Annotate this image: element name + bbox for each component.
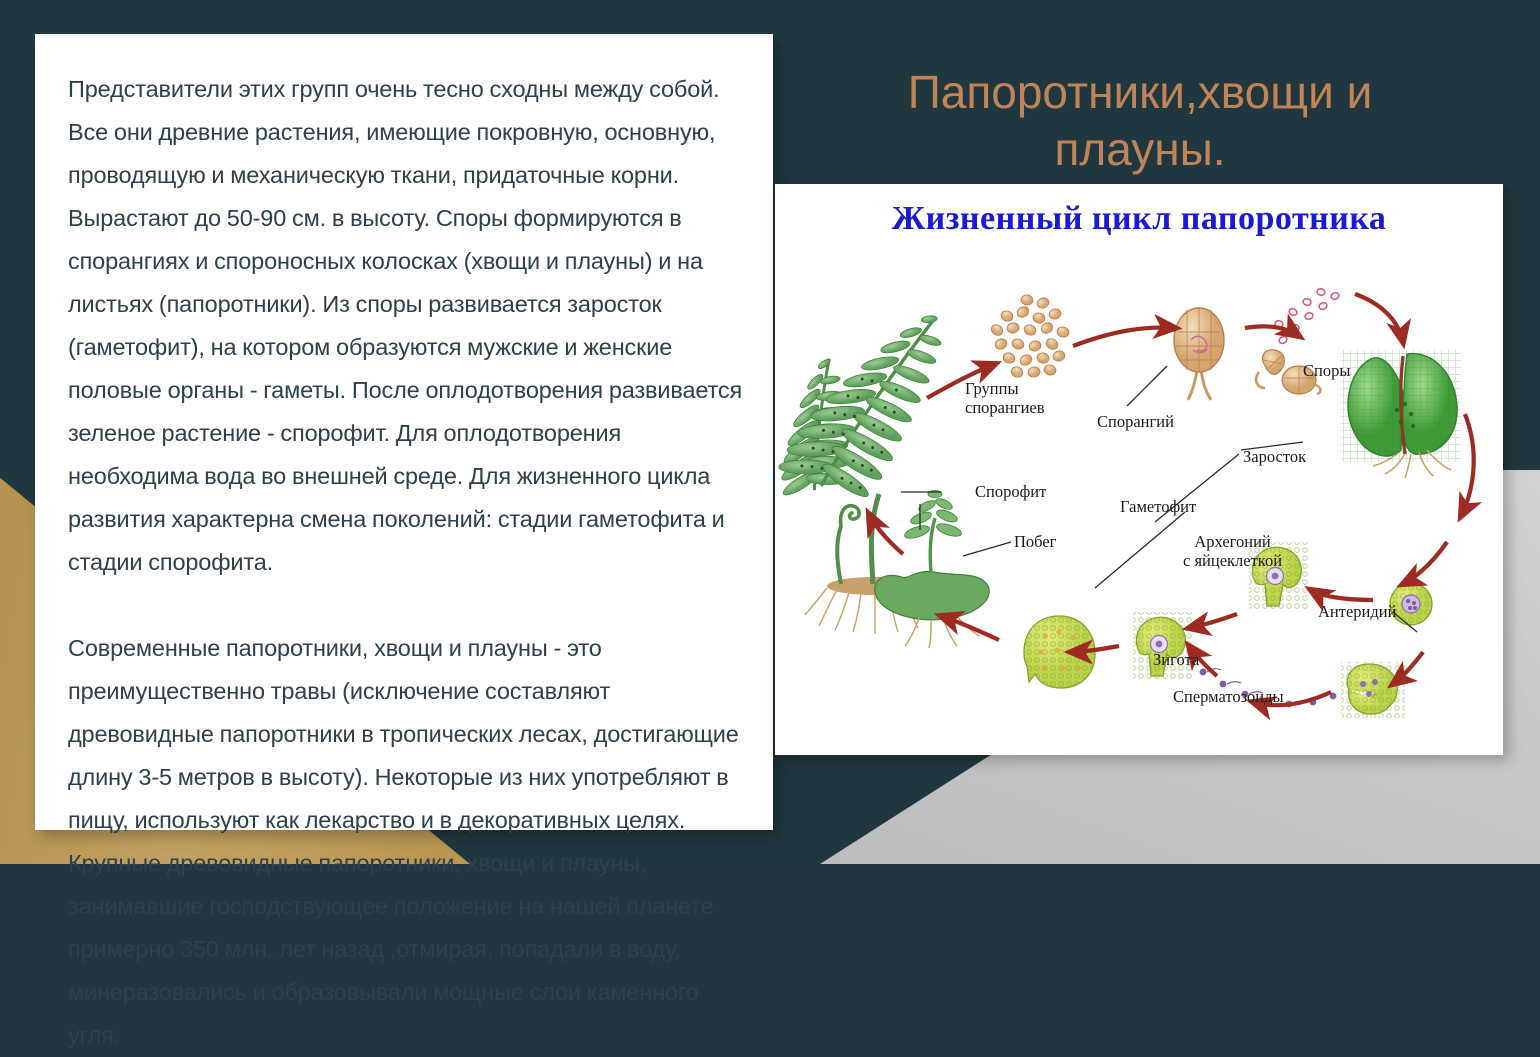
paragraph-1: Представители этих групп очень тесно схо… bbox=[68, 68, 751, 584]
label-zigota: Зигота bbox=[1153, 650, 1199, 669]
label-pobeg: Побег bbox=[1014, 532, 1056, 551]
paragraph-2: Современные папоротники, хвощи и плауны … bbox=[68, 627, 751, 1057]
label-gruppy-sporangiev: Группы спорангиев bbox=[965, 379, 1045, 417]
label-gametofit: Гаметофит bbox=[1120, 497, 1196, 516]
label-arhegoniy: Архегоний с яйцеклеткой bbox=[1183, 532, 1282, 570]
label-spory: Споры bbox=[1303, 361, 1350, 380]
sori-cluster-icon bbox=[989, 294, 1070, 379]
label-sporangiy: Спорангий bbox=[1097, 412, 1174, 431]
label-spermatozoidy: Сперматозоиды bbox=[1173, 687, 1284, 706]
label-anteridiy: Антеридий bbox=[1318, 602, 1396, 621]
label-sporofit: Спорофит bbox=[975, 482, 1046, 501]
figure-title: Жизненный цикл папоротника bbox=[775, 200, 1503, 238]
slide-title: Папоротники,хвощи и плауны. bbox=[790, 64, 1490, 178]
prothallus-icon bbox=[1341, 350, 1461, 478]
archegonium-fertilized-icon bbox=[1133, 612, 1193, 680]
slide-title-line-1: Папоротники,хвощи и bbox=[790, 64, 1490, 121]
young-sporophyte-icon bbox=[875, 490, 990, 648]
label-zarostok: Заросток bbox=[1243, 447, 1306, 466]
sporangium-icon bbox=[1174, 308, 1224, 400]
body-text-card: Представители этих групп очень тесно схо… bbox=[35, 34, 773, 830]
slide-title-line-2: плауны. bbox=[790, 121, 1490, 178]
fern-lifecycle-figure: Жизненный цикл папоротника bbox=[775, 184, 1503, 755]
body-text-inner: Представители этих групп очень тесно схо… bbox=[35, 34, 773, 1057]
antheridium-releasing-icon bbox=[1341, 662, 1405, 718]
